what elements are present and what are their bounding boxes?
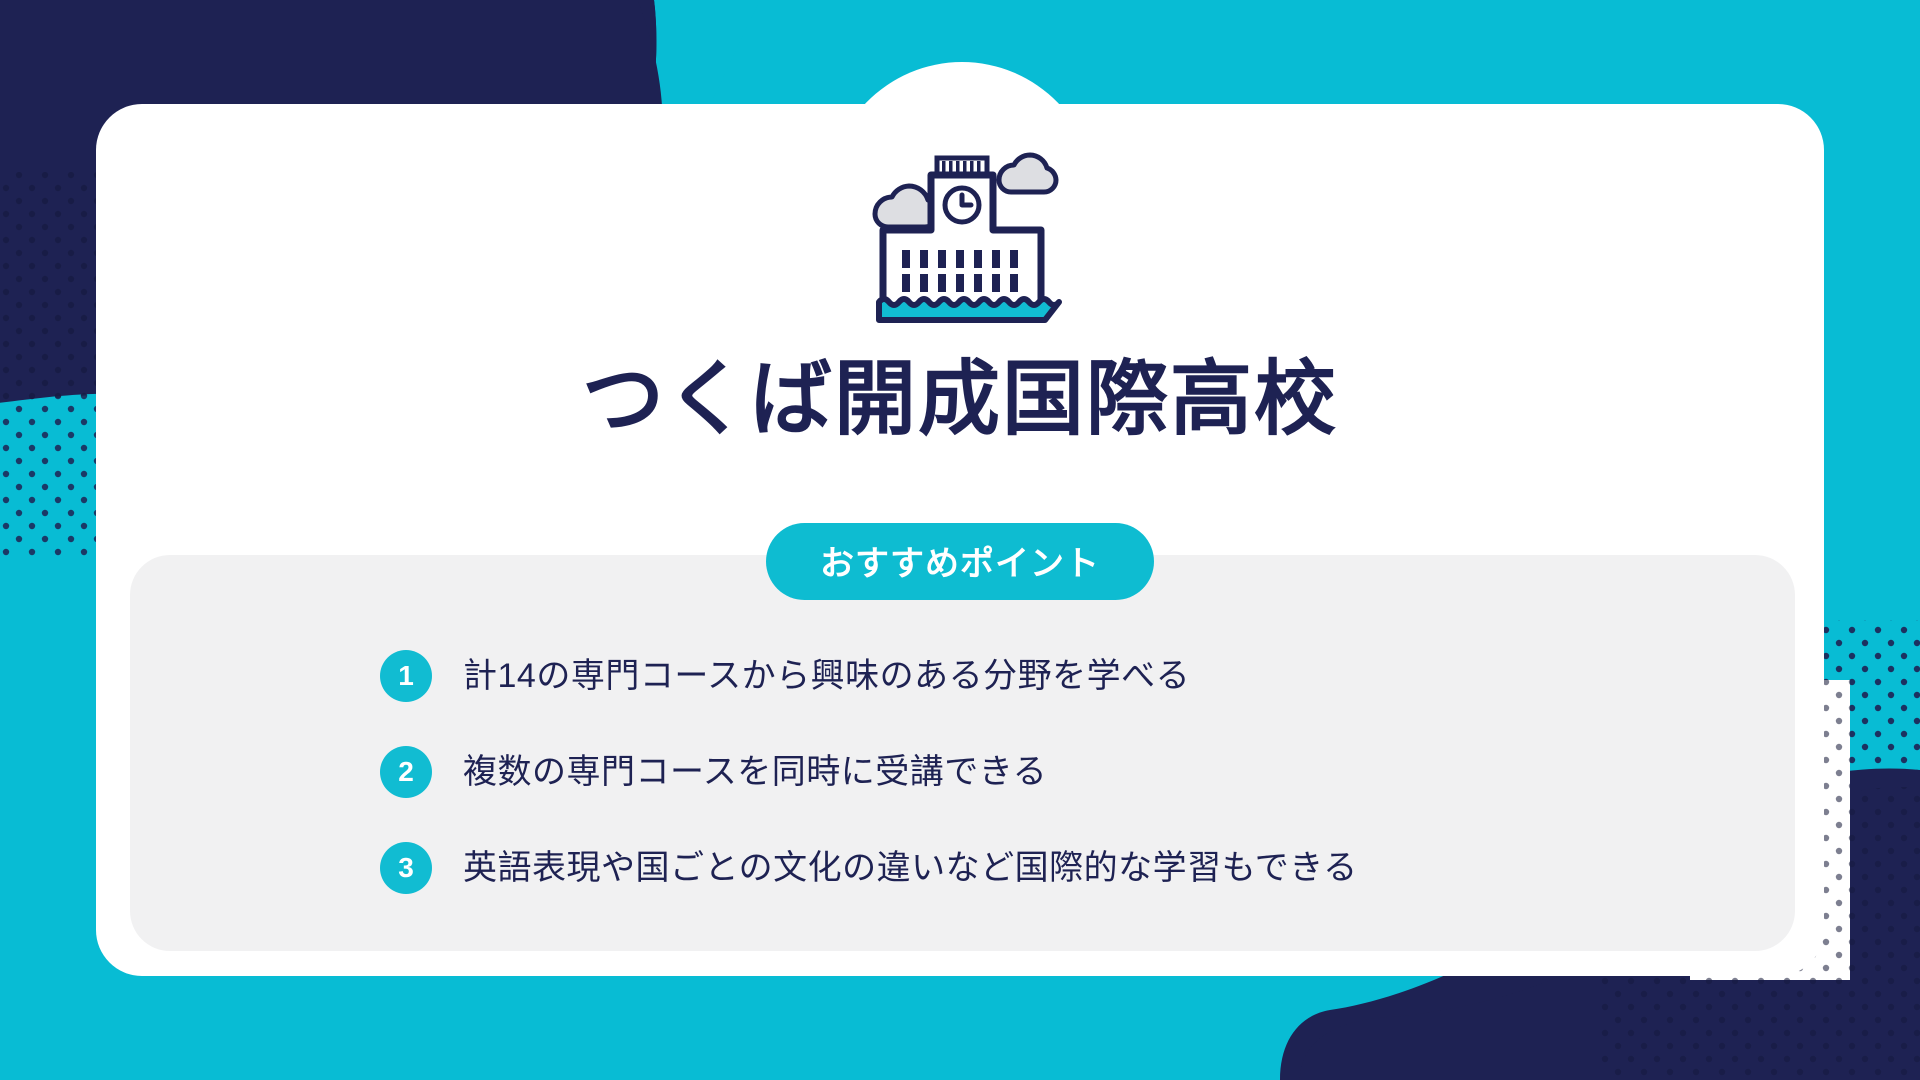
list-item: 1 計14の専門コースから興味のある分野を学べる (380, 628, 1680, 724)
list-item: 2 複数の専門コースを同時に受講できる (380, 724, 1680, 820)
point-text: 複数の専門コースを同時に受講できる (463, 752, 1047, 793)
recommended-points-badge: おすすめポイント (766, 523, 1154, 600)
page-title: つくば開成国際高校 (0, 355, 1920, 445)
list-item: 3 英語表現や国ごとの文化の違いなど国際的な学習もできる (380, 820, 1680, 916)
points-list: 1 計14の専門コースから興味のある分野を学べる 2 複数の専門コースを同時に受… (380, 628, 1680, 916)
point-number-badge: 1 (380, 650, 432, 702)
slide-canvas: つくば開成国際高校 おすすめポイント 1 計14の専門コースから興味のある分野を… (0, 0, 1920, 1080)
point-text: 計14の専門コースから興味のある分野を学べる (463, 656, 1190, 697)
point-number-badge: 3 (380, 842, 432, 894)
point-number-badge: 2 (380, 746, 432, 798)
school-building-icon (845, 142, 1075, 332)
point-text: 英語表現や国ごとの文化の違いなど国際的な学習もできる (463, 848, 1358, 889)
